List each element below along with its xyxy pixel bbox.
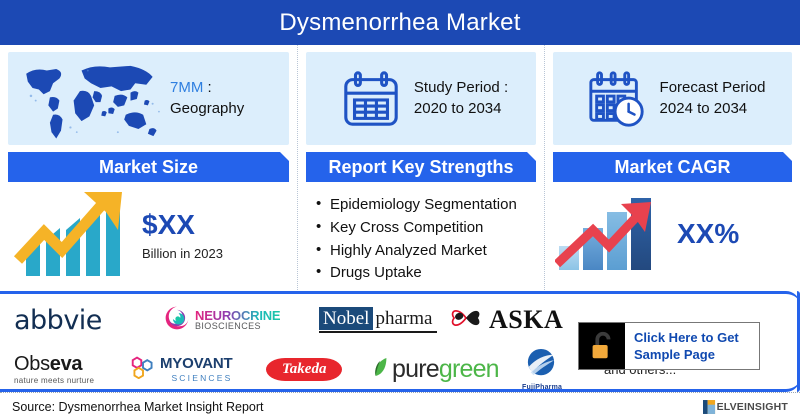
myovant-name: MYOVANT [160, 356, 233, 371]
neurocrine-swirl-icon [164, 305, 190, 336]
obseva-name: Obseva [14, 354, 94, 374]
forecast-period-line2: 2024 to 2034 [660, 99, 766, 119]
cta-text: Click Here to Get Sample Page [625, 329, 739, 363]
key-strengths-content: Epidemiology Segmentation Key Cross Comp… [298, 182, 544, 285]
nobel-sub: pharma [373, 308, 432, 330]
delveinsight-mark-icon [703, 399, 716, 415]
column-market-cagr: Forecast Period 2024 to 2034 Market CAGR [545, 45, 800, 290]
logo-abbvie: abbvie [14, 305, 164, 336]
list-item: Drugs Uptake [330, 262, 534, 285]
columns-container: 7MM : Geography Market Size [0, 45, 800, 290]
key-strengths-banner-row: Report Key Strengths [298, 152, 544, 182]
fujipharma-name: FujiPharma [522, 384, 562, 391]
fujipharma-swirl-icon [522, 348, 560, 378]
myovant-hexagons-icon [130, 355, 156, 384]
aska-name: ASKA [489, 305, 563, 335]
puregreen-name: puregreen [392, 357, 499, 382]
market-cagr-banner-row: Market CAGR [545, 152, 800, 182]
nobel-underline [319, 331, 437, 333]
delveinsight-wordmark: ELVEINSIGHT [717, 401, 788, 413]
key-strengths-list: Epidemiology Segmentation Key Cross Comp… [308, 194, 534, 285]
market-size-banner: Market Size [8, 152, 289, 182]
market-cagr-content: XX% [545, 182, 800, 277]
page-title: Dysmenorrhea Market [279, 9, 520, 37]
geography-highlight: 7MM [170, 79, 203, 96]
key-strengths-banner: Report Key Strengths [306, 152, 536, 182]
open-padlock-icon [579, 323, 625, 369]
takeda-name: Takeda [266, 358, 342, 381]
list-item: Highly Analyzed Market [330, 240, 534, 263]
logo-obseva: Obseva nature meets nurture [14, 354, 130, 385]
page-footer: Source: Dysmenorrhea Market Insight Repo… [0, 392, 800, 420]
logo-takeda: Takeda [266, 358, 372, 381]
logo-neurocrine: NEUROCRINE BIOSCIENCES [164, 305, 319, 336]
logo-nobelpharma: Nobel pharma [319, 307, 449, 333]
neurocrine-sub: BIOSCIENCES [195, 322, 280, 331]
sample-page-cta-button[interactable]: Click Here to Get Sample Page [578, 322, 760, 370]
nobel-name: Nobel [319, 307, 373, 330]
bar-chart-red-arrow-icon [555, 190, 673, 277]
forecast-period-panel: Forecast Period 2024 to 2034 [553, 52, 792, 145]
calendar-clock-icon [586, 68, 648, 130]
logo-puregreen: puregreen [372, 356, 522, 383]
market-size-content: $XX Billion in 2023 [0, 182, 297, 281]
column-market-size: 7MM : Geography Market Size [0, 45, 297, 290]
cta-line1: Click Here to Get [634, 329, 739, 346]
market-size-value: $XX [142, 211, 223, 239]
study-period-line2: 2020 to 2034 [414, 99, 508, 119]
obseva-tagline: nature meets nurture [14, 376, 94, 385]
cta-line2: Sample Page [634, 346, 739, 363]
list-item: Epidemiology Segmentation [330, 194, 534, 217]
page-header: Dysmenorrhea Market [0, 0, 800, 45]
puregreen-leaf-icon [372, 356, 390, 383]
geography-label: 7MM : Geography [170, 78, 289, 119]
geography-panel: 7MM : Geography [8, 52, 289, 145]
calendar-icon [340, 68, 402, 130]
market-cagr-value: XX% [677, 218, 739, 250]
study-period-label: Study Period : 2020 to 2034 [414, 78, 508, 119]
market-size-caption: Billion in 2023 [142, 246, 223, 261]
market-size-metric: $XX Billion in 2023 [10, 190, 287, 281]
infographic-page: Dysmenorrhea Market [0, 0, 800, 420]
forecast-period-line1: Forecast Period [660, 78, 766, 98]
logo-myovant: MYOVANT SCIENCES [130, 355, 266, 384]
myovant-sub: SCIENCES [160, 373, 233, 383]
study-period-line1: Study Period : [414, 78, 508, 98]
market-cagr-banner: Market CAGR [553, 152, 792, 182]
world-map-icon [12, 56, 170, 142]
list-item: Key Cross Competition [330, 217, 534, 240]
forecast-period-label: Forecast Period 2024 to 2034 [660, 78, 766, 119]
aska-butterfly-icon [449, 304, 483, 337]
market-size-values: $XX Billion in 2023 [142, 211, 223, 261]
column-report-key-strengths: Study Period : 2020 to 2034 Report Key S… [297, 45, 545, 290]
study-period-panel: Study Period : 2020 to 2034 [306, 52, 536, 145]
bar-chart-up-arrow-icon [10, 190, 134, 281]
market-size-banner-row: Market Size [0, 152, 297, 182]
delveinsight-logo: ELVEINSIGHT [703, 399, 788, 415]
market-cagr-metric: XX% [555, 190, 790, 277]
source-label: Source: Dysmenorrhea Market Insight Repo… [12, 400, 264, 414]
company-logos-section: abbvie NEUROCRINE BIOSCIENCES [0, 291, 800, 392]
